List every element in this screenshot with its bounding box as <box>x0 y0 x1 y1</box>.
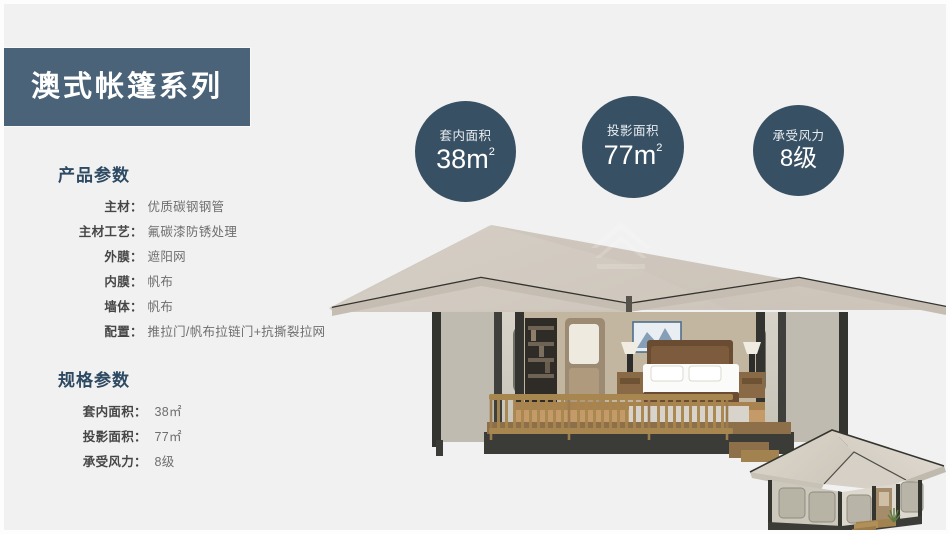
param-label: 外膜 <box>58 246 130 265</box>
slide-canvas: 澳式帐篷系列 产品参数 主材 ： 优质碳钢钢管 主材工艺 ： 氟碳漆防锈处理 外… <box>0 0 950 534</box>
param-row: 内膜 ： 帆布 <box>58 271 325 296</box>
secondary-tent-image <box>746 422 950 534</box>
stat-value: 77m2 <box>604 142 663 169</box>
param-label: 主材工艺 <box>58 221 130 240</box>
param-value: 氟碳漆防锈处理 <box>148 221 238 240</box>
param-colon: ： <box>134 426 152 445</box>
param-label: 主材 <box>58 196 130 215</box>
param-row: 套内面积 ： 38㎡ <box>58 401 182 426</box>
param-value: 推拉门/帆布拉链门+抗撕裂拉网 <box>148 321 326 340</box>
stat-unit: m <box>634 142 657 169</box>
param-colon: ： <box>130 271 148 290</box>
param-colon: ： <box>130 246 148 265</box>
param-label: 内膜 <box>58 271 130 290</box>
param-value: 8级 <box>152 451 175 470</box>
param-label: 承受风力 <box>58 451 134 470</box>
stat-circle-wind-rating: 承受风力 8级 <box>753 105 844 196</box>
secondary-tent-illustration <box>746 422 950 534</box>
stat-label: 承受风力 <box>772 130 824 143</box>
param-row: 承受风力 ： 8级 <box>58 451 182 476</box>
stat-label: 投影面积 <box>607 125 659 138</box>
param-row: 主材工艺 ： 氟碳漆防锈处理 <box>58 221 325 246</box>
param-value: 77㎡ <box>152 426 182 445</box>
param-colon: ： <box>130 321 148 340</box>
stat-label: 套内面积 <box>439 130 491 143</box>
stat-number: 77 <box>604 142 634 169</box>
stat-superscript: 2 <box>489 147 495 158</box>
param-colon: ： <box>130 196 148 215</box>
param-row: 墙体 ： 帆布 <box>58 296 325 321</box>
param-value: 遮阳网 <box>148 246 186 265</box>
size-parameters-heading: 规格参数 <box>58 372 182 391</box>
param-label: 配置 <box>58 321 130 340</box>
stat-value: 8级 <box>780 147 817 171</box>
param-value: 优质碳钢钢管 <box>148 196 225 215</box>
param-value: 帆布 <box>148 271 174 290</box>
param-label: 套内面积 <box>58 401 134 420</box>
param-colon: ： <box>130 296 148 315</box>
product-parameters-section: 产品参数 主材 ： 优质碳钢钢管 主材工艺 ： 氟碳漆防锈处理 外膜 ： 遮阳网… <box>58 167 325 346</box>
param-colon: ： <box>130 221 148 240</box>
stat-circle-indoor-area: 套内面积 38m2 <box>415 101 516 202</box>
stat-superscript: 2 <box>656 143 662 154</box>
stat-value: 38m2 <box>436 146 495 173</box>
stat-number: 8级 <box>780 147 817 171</box>
page-title: 澳式帐篷系列 <box>31 73 223 102</box>
param-row: 投影面积 ： 77㎡ <box>58 426 182 451</box>
stat-unit: m <box>466 146 489 173</box>
param-colon: ： <box>134 451 152 470</box>
param-value: 帆布 <box>148 296 174 315</box>
stat-circle-projected-area: 投影面积 77m2 <box>582 96 684 198</box>
product-parameters-heading: 产品参数 <box>58 167 325 186</box>
param-row: 主材 ： 优质碳钢钢管 <box>58 196 325 221</box>
size-parameters-section: 规格参数 套内面积 ： 38㎡ 投影面积 ： 77㎡ 承受风力 ： 8级 <box>58 372 182 476</box>
param-label: 投影面积 <box>58 426 134 445</box>
param-label: 墙体 <box>58 296 130 315</box>
param-row: 外膜 ： 遮阳网 <box>58 246 325 271</box>
stat-number: 38 <box>436 146 466 173</box>
param-colon: ： <box>134 401 152 420</box>
param-row: 配置 ： 推拉门/帆布拉链门+抗撕裂拉网 <box>58 321 325 346</box>
param-value: 38㎡ <box>152 401 182 420</box>
title-banner: 澳式帐篷系列 <box>4 48 250 126</box>
